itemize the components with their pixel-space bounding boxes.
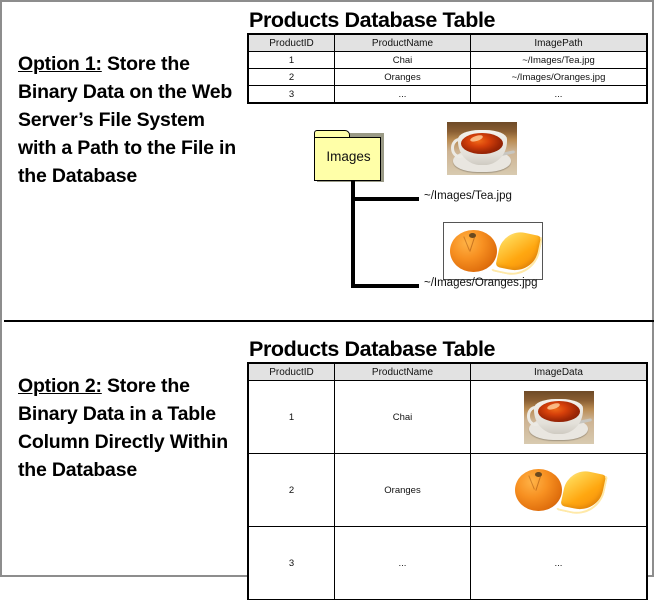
cell-productid: 2: [249, 69, 335, 86]
cell-productname: Oranges: [335, 69, 471, 86]
option2-panel: Option 2: Store the Binary Data in a Tab…: [2, 320, 652, 575]
diagram-frame: Option 1: Store the Binary Data on the W…: [0, 0, 654, 577]
cell-productname: Chai: [335, 381, 471, 454]
cell-productid: 2: [249, 454, 335, 527]
table-row: 3 ... ...: [249, 527, 647, 600]
column-header-imagepath: ImagePath: [471, 35, 647, 52]
column-header-imagedata: ImageData: [471, 364, 647, 381]
cell-imagepath: ~/Images/Tea.jpg: [471, 52, 647, 69]
orange-rind-shape: [490, 227, 543, 280]
images-folder-icon: Images: [314, 130, 384, 182]
oranges-photo: [510, 462, 608, 518]
cell-imagepath: ~/Images/Oranges.jpg: [471, 69, 647, 86]
cell-productname: ...: [335, 86, 471, 103]
folder-label: Images: [314, 149, 383, 164]
table-row: 1 Chai ~/Images/Tea.jpg: [249, 52, 647, 69]
option2-products-table: ProductID ProductName ImageData 1 Chai: [248, 363, 647, 600]
tree-branch-line: [351, 284, 419, 288]
table-row: 2 Oranges ~/Images/Oranges.jpg: [249, 69, 647, 86]
cell-imagedata: [471, 381, 647, 454]
tree-branch-line: [351, 197, 419, 201]
cell-productname: Chai: [335, 52, 471, 69]
cell-productname: Oranges: [335, 454, 471, 527]
cell-imagepath: ...: [471, 86, 647, 103]
cell-productid: 3: [249, 527, 335, 600]
table-row: 2 Oranges: [249, 454, 647, 527]
option1-label: Option 1:: [18, 53, 102, 75]
tea-cup-photo: [524, 391, 594, 444]
column-header-productid: ProductID: [249, 35, 335, 52]
cell-productname: ...: [335, 527, 471, 600]
table-header-row: ProductID ProductName ImageData: [249, 364, 647, 381]
option2-caption: Option 2: Store the Binary Data in a Tab…: [18, 372, 236, 484]
cell-imagedata: [471, 454, 647, 527]
cell-productid: 1: [249, 52, 335, 69]
tea-cup-illustration: [447, 122, 517, 175]
cell-imagedata: ...: [471, 527, 647, 600]
option1-table-title: Products Database Table: [249, 8, 495, 33]
oranges-illustration: [444, 223, 542, 279]
table-row: 1 Chai: [249, 381, 647, 454]
orange-stem-shape: [535, 472, 542, 477]
column-header-productid: ProductID: [249, 364, 335, 381]
cell-productid: 1: [249, 381, 335, 454]
filesystem-tree: Images ~/Images/Tea.jpg: [242, 120, 652, 305]
option1-panel: Option 1: Store the Binary Data on the W…: [2, 2, 652, 320]
orange-stem-shape: [469, 233, 476, 238]
table-row: 3 ... ...: [249, 86, 647, 103]
option1-caption: Option 1: Store the Binary Data on the W…: [18, 50, 236, 190]
orange-rind-shape: [555, 466, 607, 518]
tea-cup-photo: [447, 122, 517, 175]
file-path-label: ~/Images/Oranges.jpg: [424, 277, 537, 289]
option1-products-table: ProductID ProductName ImagePath 1 Chai ~…: [248, 34, 647, 103]
oranges-photo: [443, 222, 543, 280]
option2-label: Option 2:: [18, 375, 102, 397]
column-header-productname: ProductName: [335, 35, 471, 52]
column-header-productname: ProductName: [335, 364, 471, 381]
table-header-row: ProductID ProductName ImagePath: [249, 35, 647, 52]
tea-cup-illustration: [524, 391, 594, 444]
oranges-illustration: [510, 462, 608, 518]
file-path-label: ~/Images/Tea.jpg: [424, 190, 512, 202]
option2-table-title: Products Database Table: [249, 337, 495, 362]
cell-productid: 3: [249, 86, 335, 103]
